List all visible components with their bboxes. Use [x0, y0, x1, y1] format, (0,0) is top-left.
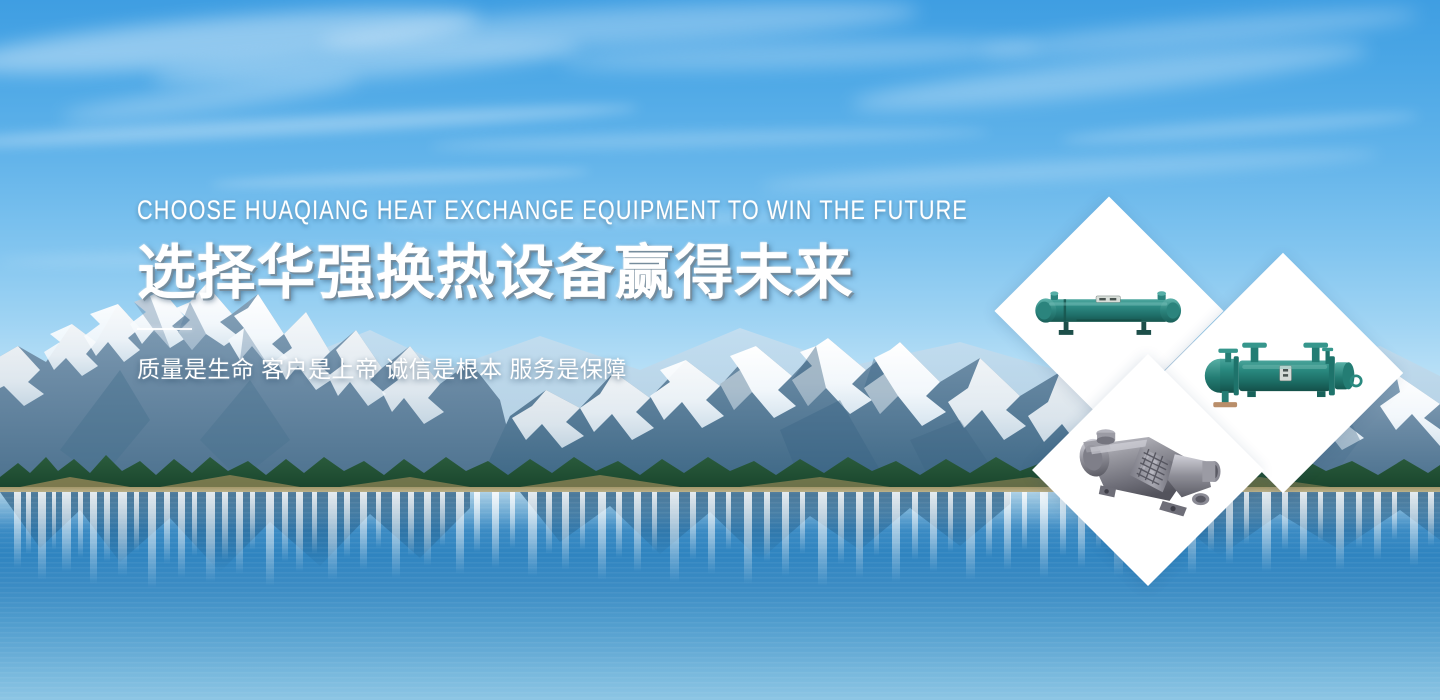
- cloud-streak: [560, 34, 1041, 77]
- product-tile-inner: [1066, 388, 1230, 552]
- shell-and-tube-heat-exchanger-icon: [1028, 283, 1190, 340]
- hero-headline: 选择华强换热设备赢得未来: [137, 240, 917, 306]
- flanged-nozzle-heat-exchanger-icon: [1198, 335, 1368, 412]
- cloud-streak: [980, 1, 1421, 65]
- product-tile-inner: [1028, 230, 1190, 392]
- lake-water: [0, 492, 1440, 700]
- hero-tagline: CHOOSE HUAQIANG HEAT EXCHANGE EQUIPMENT …: [137, 196, 761, 224]
- cloud-streak: [1060, 107, 1420, 148]
- cloud-streak: [149, 33, 580, 93]
- hero-copy: CHOOSE HUAQIANG HEAT EXCHANGE EQUIPMENT …: [137, 196, 917, 385]
- cloud-streak: [760, 144, 1380, 196]
- headline-divider: [137, 328, 192, 330]
- cloud-streak: [60, 70, 360, 128]
- cast-oil-cooler-icon: [1066, 418, 1230, 522]
- mountain-reflection: [0, 492, 1440, 612]
- hero-subtitle: 质量是生命 客户是上帝 诚信是根本 服务是保障: [137, 355, 917, 385]
- cloud-streak: [0, 100, 640, 153]
- cloud-streak: [850, 33, 1371, 121]
- cloud-streak: [0, 0, 481, 87]
- hero-banner: CHOOSE HUAQIANG HEAT EXCHANGE EQUIPMENT …: [0, 0, 1440, 700]
- cloud-streak: [210, 165, 590, 190]
- cloud-streak: [319, 0, 920, 62]
- cloud-streak: [430, 125, 990, 154]
